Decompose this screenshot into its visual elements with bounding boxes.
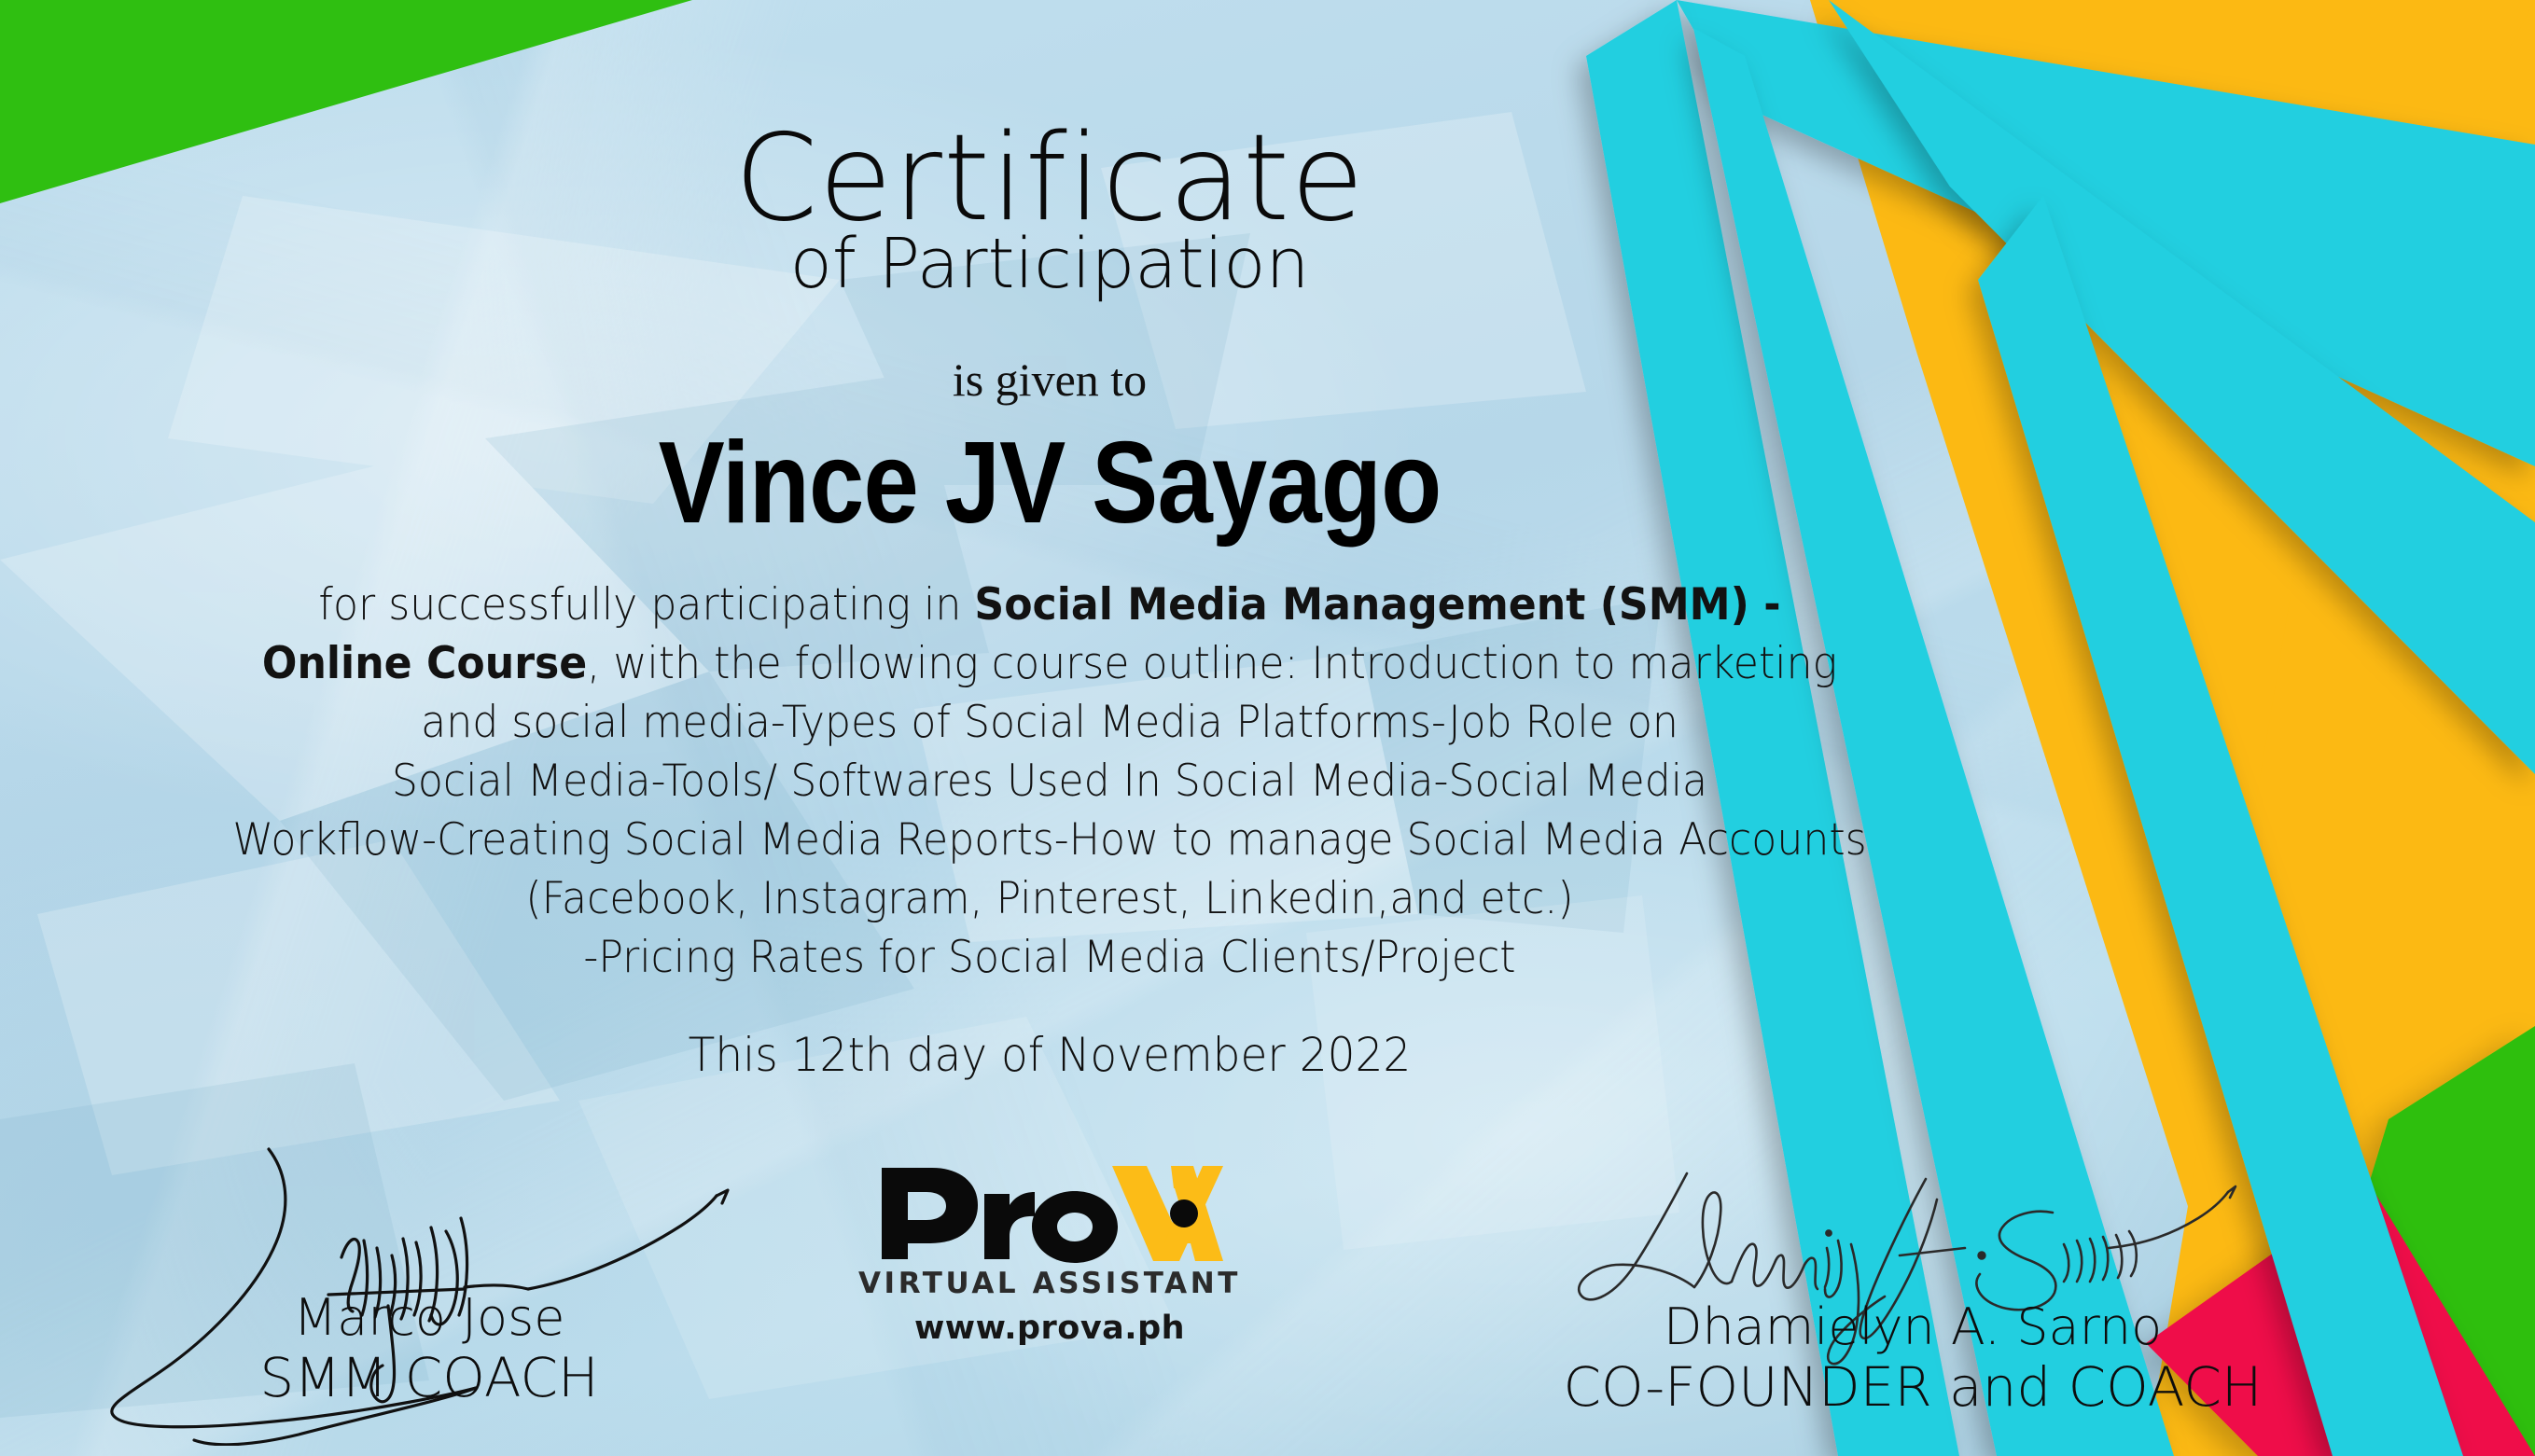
date-line: This 12th day of November 2022	[63, 1032, 2037, 1078]
certificate-title: Certificate	[0, 119, 2099, 239]
body-line-4: Social Media-Tools/ Softwares Used In So…	[63, 752, 2037, 811]
signatory-role-right: CO-FOUNDER and COACH	[1493, 1356, 2333, 1418]
body-line-6: (Facebook, Instagram, Pinterest, Linkedi…	[63, 869, 2037, 928]
signatory-name-right: Dhamielyn A. Sarno	[1493, 1185, 2333, 1356]
given-to-label: is given to	[0, 356, 2099, 403]
body-line-5: Workflow-Creating Social Media Reports-H…	[63, 811, 2037, 869]
signature-block-right: Dhamielyn A. Sarno CO-FOUNDER and COACH	[1493, 1185, 2333, 1418]
body-paragraph: for successfully participating in Social…	[63, 575, 2037, 987]
body-line-3: and social media-Types of Social Media P…	[63, 693, 2037, 752]
signature-block-left: Marco Jose SMM COACH	[93, 1147, 765, 1408]
prova-logo-icon	[876, 1164, 1223, 1263]
certificate-subtitle: of Participation	[0, 229, 2099, 298]
recipient-name: Vince JV Sayago	[147, 422, 1953, 547]
body-line-1: for successfully participating in Social…	[63, 575, 2037, 634]
signatory-name-left: Marco Jose	[93, 1147, 765, 1347]
signatory-role-left: SMM COACH	[93, 1347, 765, 1408]
body-line-2: Online Course, with the following course…	[63, 634, 2037, 693]
certificate-content: Certificate of Participation is given to…	[0, 0, 2535, 1456]
body-line-7: -Pricing Rates for Social Media Clients/…	[63, 928, 2037, 987]
certificate-canvas: Certificate of Participation is given to…	[0, 0, 2535, 1456]
